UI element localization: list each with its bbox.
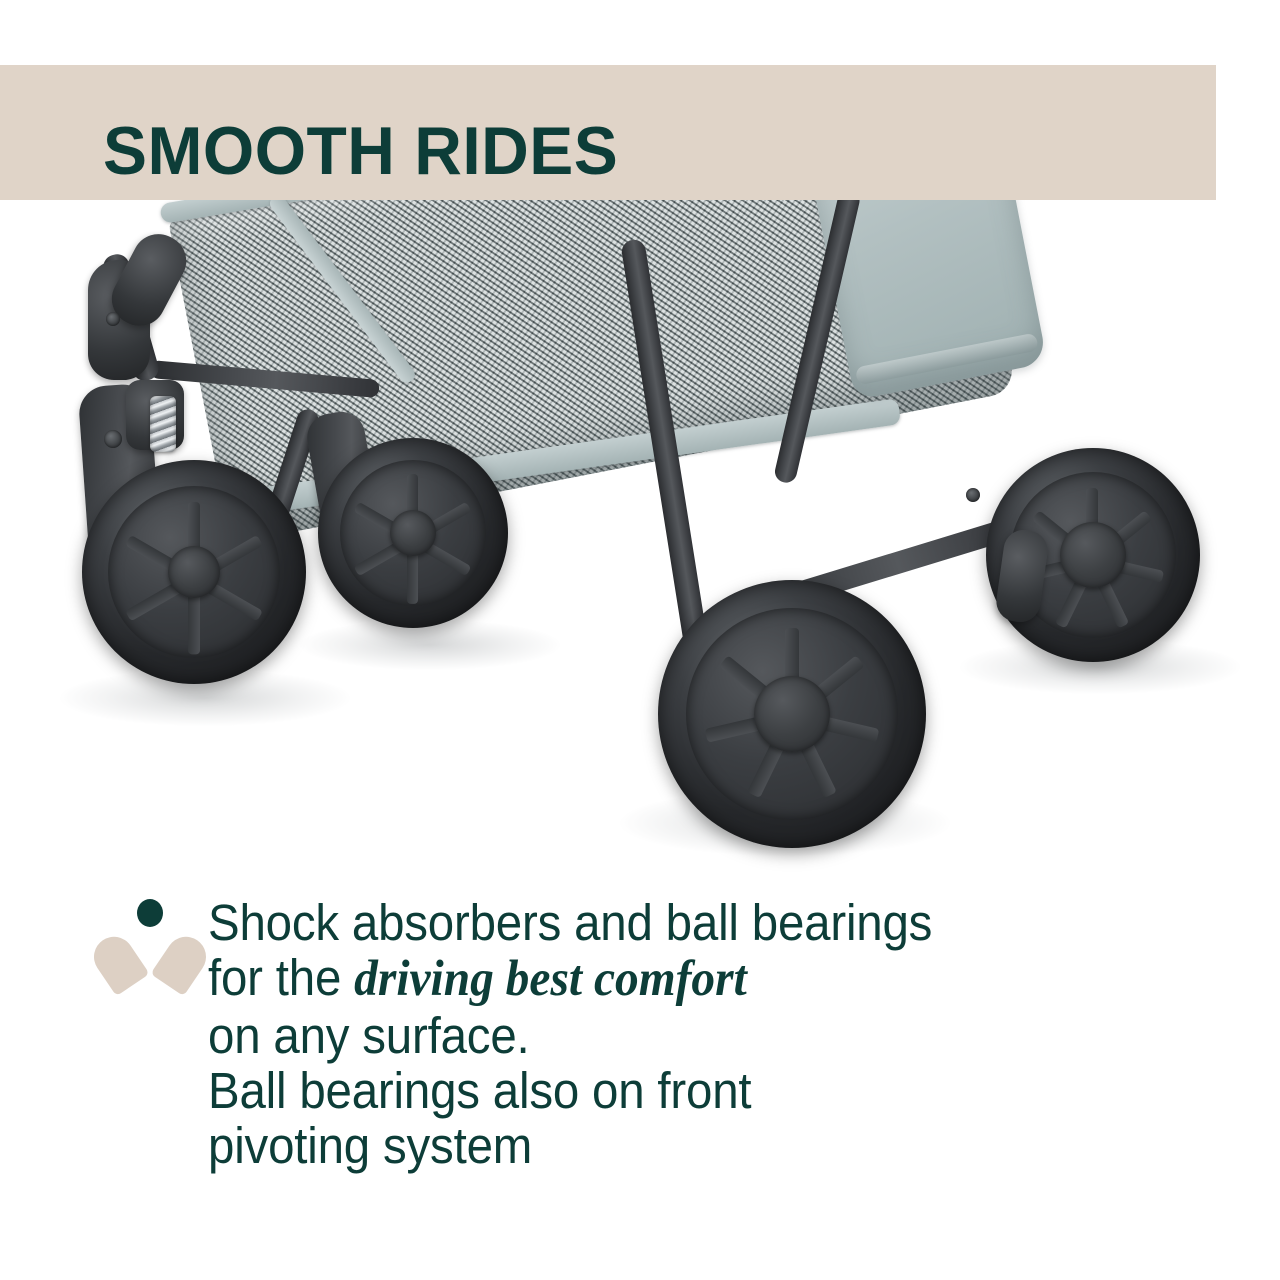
- product-image: [0, 200, 1280, 900]
- hub-cap: [1060, 522, 1126, 588]
- feature-emphasis: driving best comfort: [354, 951, 747, 1007]
- bullet-marker-icon: [113, 895, 189, 987]
- feature-line-1: Shock absorbers and ball bearings: [208, 895, 932, 950]
- hub-cap: [754, 676, 830, 752]
- front-swivel-wheel-right: [318, 438, 508, 628]
- shock-absorber-spring: [150, 396, 176, 452]
- page-title: SMOOTH RIDES: [103, 117, 618, 185]
- bullet-dot-icon: [137, 899, 163, 927]
- feature-description: Shock absorbers and ball bearings for th…: [208, 895, 932, 1174]
- rear-axle-screw: [966, 488, 980, 502]
- feature-line-4: Ball bearings also on front: [208, 1063, 932, 1118]
- joint-screw-top: [106, 312, 120, 326]
- feature-line-2-prefix: for the: [208, 949, 354, 1006]
- feature-line-5: pivoting system: [208, 1118, 932, 1173]
- hub-cap: [390, 510, 436, 556]
- feature-line-3: on any surface.: [208, 1008, 932, 1063]
- bullet-heart-icon: [113, 931, 187, 987]
- rear-wheel-center: [658, 580, 926, 848]
- feature-bullet: Shock absorbers and ball bearings for th…: [0, 895, 1280, 1174]
- shadow-front-right: [300, 620, 560, 670]
- hub-cap: [168, 546, 220, 598]
- front-swivel-wheel-left: [82, 460, 306, 684]
- feature-line-2: for the driving best comfort: [208, 950, 932, 1007]
- fork-pivot-screw-left: [104, 430, 122, 448]
